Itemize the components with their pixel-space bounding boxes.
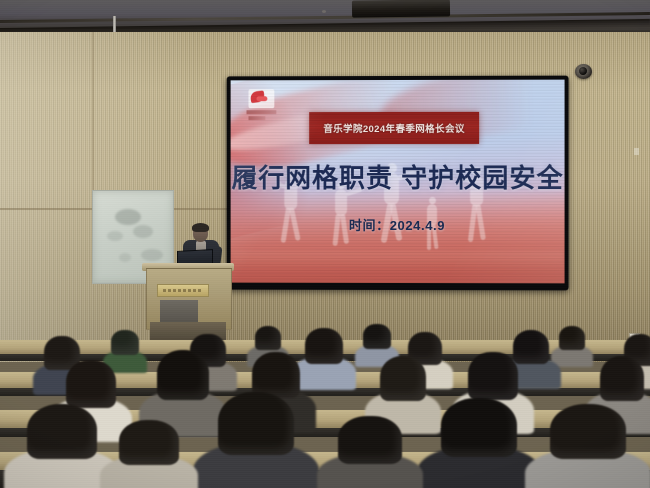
ceiling-speaker-right bbox=[352, 0, 450, 18]
lecture-hall-photo: 音乐学院2024年春季网格长会议 履行网格职责 守护校园安全 时间：2024.4… bbox=[0, 0, 650, 488]
presenter-hair bbox=[192, 223, 209, 232]
attendee bbox=[330, 416, 410, 488]
slide-title: 履行网格职责 守护校园安全 bbox=[231, 158, 565, 195]
attendee-head bbox=[363, 324, 390, 349]
attendee bbox=[300, 328, 348, 382]
institution-logo bbox=[247, 89, 277, 123]
attendee-head bbox=[550, 404, 627, 459]
wall-outlet-plate-upper bbox=[634, 148, 639, 155]
attendee-head bbox=[119, 420, 178, 465]
attendee bbox=[374, 356, 432, 424]
attendee bbox=[556, 326, 588, 362]
attendee bbox=[112, 420, 186, 488]
attendee bbox=[208, 392, 304, 488]
led-display: 音乐学院2024年春季网格长会议 履行网格职责 守护校园安全 时间：2024.4… bbox=[227, 76, 569, 291]
attendee bbox=[540, 404, 636, 488]
ceiling-fixture-dot bbox=[322, 10, 326, 13]
slide-floor-band bbox=[231, 251, 565, 272]
attendee-head bbox=[255, 326, 281, 350]
wall-panel-seam-vertical bbox=[92, 32, 94, 208]
attendee bbox=[18, 404, 106, 488]
attendee-head bbox=[338, 416, 402, 464]
attendee-head bbox=[218, 392, 295, 455]
attendee bbox=[150, 350, 216, 426]
attendee-head bbox=[66, 360, 116, 408]
slide-banner-text: 音乐学院2024年春季网格长会议 bbox=[309, 112, 479, 144]
attendee-head bbox=[468, 352, 518, 400]
slide-date-line: 时间：2024.4.9 bbox=[231, 215, 565, 234]
attendee-head bbox=[157, 350, 210, 400]
attendee bbox=[432, 398, 526, 488]
attendee-head bbox=[441, 398, 516, 457]
attendee-head bbox=[27, 404, 97, 459]
attendee-head bbox=[380, 356, 426, 401]
presentation-slide: 音乐学院2024年春季网格长会议 履行网格职责 守护校园安全 时间：2024.4… bbox=[231, 80, 565, 284]
attendee-head bbox=[111, 330, 138, 355]
dome-camera-icon bbox=[575, 64, 592, 79]
attendee-head bbox=[305, 328, 343, 364]
attendee-head bbox=[559, 326, 585, 350]
attendee-head bbox=[600, 356, 645, 401]
podium-nameplate bbox=[157, 284, 209, 297]
